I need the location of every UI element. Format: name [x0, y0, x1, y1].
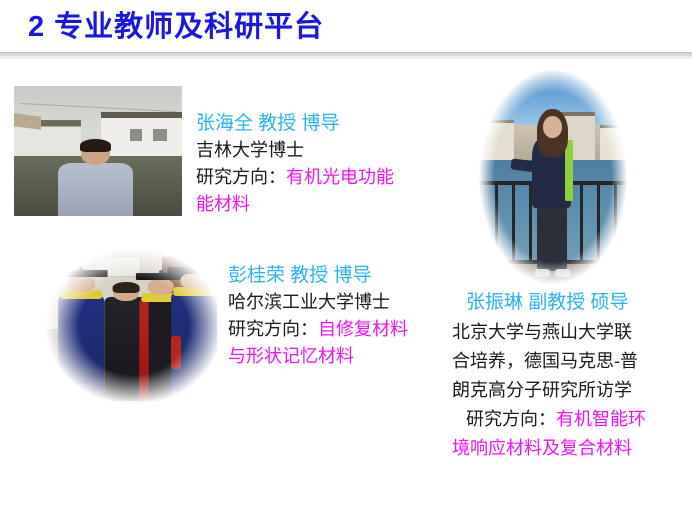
research-label: 研究方向： [466, 409, 556, 429]
person-research-line-2: 境响应材料及复合材料 [452, 434, 692, 463]
photo-tassel [159, 270, 163, 274]
photo-robe [58, 295, 104, 401]
photo-graduate-3 [176, 267, 211, 401]
photo-sleeve-stripe [565, 140, 573, 201]
person-degree: 吉林大学博士 [196, 137, 394, 164]
photo-mortarboard [167, 267, 220, 274]
river-portrait-oval-photo [478, 68, 628, 286]
research-label: 研究方向： [228, 319, 318, 339]
photo-graduate-1 [64, 270, 99, 401]
photo-person-shoe [535, 269, 550, 278]
person-name-line: 张海全 教授 博导 [196, 110, 394, 137]
photo-mortarboard [55, 270, 108, 277]
photo-person-head [543, 116, 563, 138]
photo-window [130, 129, 142, 141]
photo-person-legs [537, 203, 567, 271]
person-bio-line-1: 北京大学与燕山大学联 [452, 318, 692, 347]
photo-building [600, 125, 627, 163]
research-value-1: 有机智能环 [556, 409, 646, 429]
title-divider [0, 52, 692, 59]
research-label: 研究方向： [196, 167, 286, 187]
photo-hair [113, 282, 140, 293]
photo-head [67, 276, 94, 292]
photo-person-body [58, 163, 134, 216]
photo-robe-overlay [149, 298, 174, 401]
photo-teacher [109, 279, 142, 401]
person-research-line-2: 能材料 [196, 191, 394, 218]
person-name-line: 彭桂荣 教授 博导 [228, 262, 408, 289]
graduation-group-photo [46, 248, 222, 404]
photo-window [153, 129, 166, 141]
research-value-1: 自修复材料 [318, 319, 408, 339]
photo-tassel [192, 264, 196, 268]
research-value-1: 有机光电功能 [286, 167, 394, 187]
photo-red-gown [171, 336, 181, 368]
bio-zhang-zhenlin: 张振琳 副教授 硕导 北京大学与燕山大学联 合培养，德国马克思-普 朗克高分子研… [452, 288, 692, 463]
person-degree: 哈尔滨工业大学博士 [228, 289, 408, 316]
person-bio-line-2: 合培养，德国马克思-普 [452, 347, 692, 376]
photo-vignette-frame [46, 248, 222, 404]
person-bio-line-3: 朗克高分子研究所访学 [452, 376, 692, 405]
photo-head [180, 273, 207, 289]
bio-zhang-haiquan: 张海全 教授 博导 吉林大学博士 研究方向：有机光电功能 能材料 [196, 110, 394, 218]
canal-portrait-photo [14, 86, 182, 216]
person-research-line-1: 研究方向：自修复材料 [228, 316, 408, 343]
photo-person-shoe [555, 269, 570, 278]
page-title: 2 专业教师及科研平台 [28, 8, 324, 46]
photo-head [148, 279, 174, 295]
photo-oval-frame [478, 68, 628, 286]
photo-tassel [79, 267, 83, 271]
slide-canvas: 2 专业教师及科研平台 张海全 教授 博导 吉林大学博士 研究方向：有机光电功能… [0, 0, 692, 512]
photo-house-right [101, 112, 182, 156]
person-research-line-1: 研究方向：有机光电功能 [196, 164, 394, 191]
bio-peng-guirong: 彭桂荣 教授 博导 哈尔滨工业大学博士 研究方向：自修复材料 与形状记忆材料 [228, 262, 408, 370]
person-research-line-1: 研究方向：有机智能环 [452, 405, 692, 434]
person-research-line-2: 与形状记忆材料 [228, 343, 408, 370]
person-name-line: 张振琳 副教授 硕导 [452, 288, 692, 318]
photo-person-hair [80, 139, 112, 152]
photo-building [481, 120, 514, 162]
